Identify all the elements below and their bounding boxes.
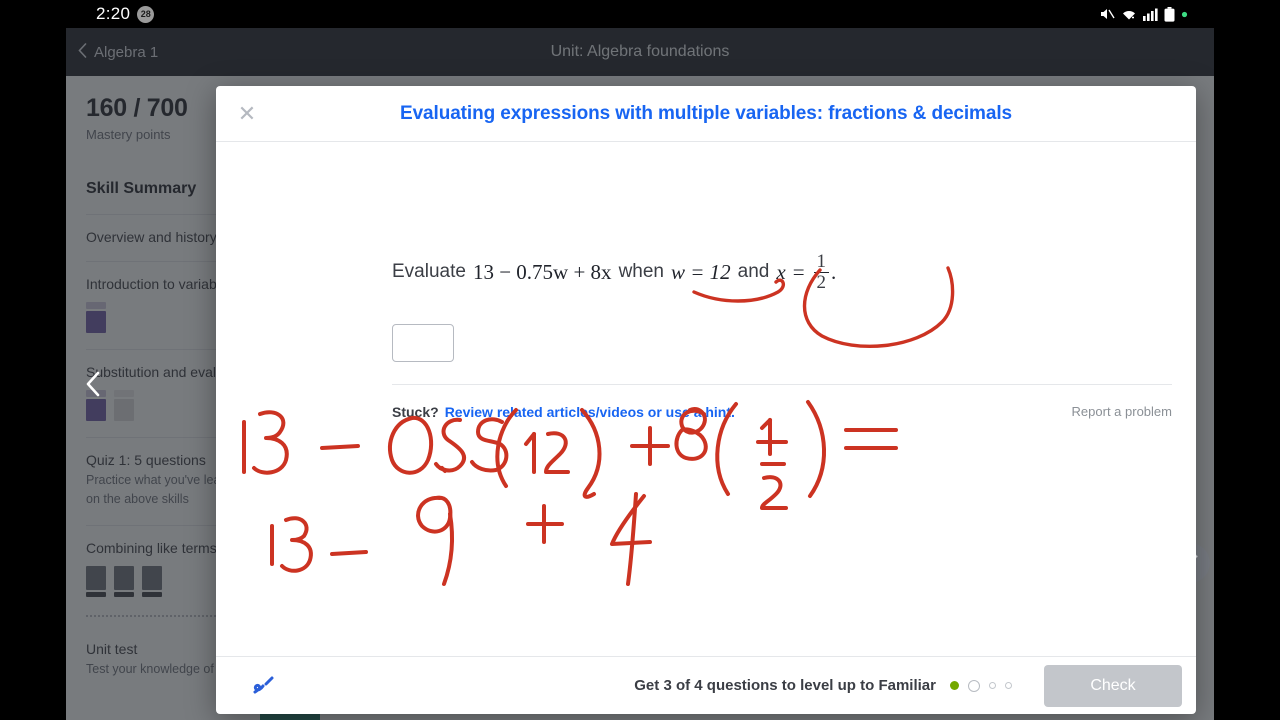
record-dot-icon [1181,11,1188,18]
scribble-pen-icon[interactable] [246,669,280,703]
progress-dot-pending [1005,682,1012,689]
prompt-when: when [619,261,664,283]
footer-progress-area: Get 3 of 4 questions to level up to Fami… [634,665,1196,707]
app-viewport: Algebra 1 Unit: Algebra foundations 160 … [66,28,1214,720]
answer-input[interactable] [392,324,454,362]
signal-icon [1143,8,1158,21]
progress-dot-pending [989,682,996,689]
prompt-assign-w: w = 12 [671,260,731,285]
prompt-assign-x-var: x [776,260,785,285]
fraction-denominator: 2 [814,272,830,293]
mute-icon [1099,7,1115,21]
question-prompt: Evaluate 13 − 0.75w + 8x when w = 12 and… [392,252,836,293]
notification-badge: 28 [137,6,154,23]
battery-icon [1164,7,1175,22]
annotation-work-line-2 [272,494,650,584]
progress-dots [950,680,1012,692]
wifi-icon [1121,8,1137,21]
previous-exercise-button[interactable] [78,371,108,401]
prompt-fraction: 1 2 [814,252,830,293]
stuck-label: Stuck? [392,404,439,420]
prompt-assign-x-eq: = [793,260,805,285]
modal-body: Evaluate 13 − 0.75w + 8x when w = 12 and… [216,142,1196,656]
fraction-numerator: 1 [814,252,830,272]
divider [392,384,1172,385]
prompt-lead: Evaluate [392,261,466,283]
status-left: 2:20 28 [96,4,154,24]
close-icon[interactable]: ✕ [232,99,262,129]
clock: 2:20 [96,4,130,24]
prompt-period: . [831,260,836,285]
modal-footer: Get 3 of 4 questions to level up to Fami… [216,656,1196,714]
prompt-expression: 13 − 0.75w + 8x [473,260,612,285]
progress-dot-correct [950,681,959,690]
status-right [1099,0,1188,28]
stuck-row: Stuck? Review related articles/videos or… [392,404,735,420]
prompt-and: and [738,261,770,283]
hint-link[interactable]: Review related articles/videos or use a … [445,404,735,420]
check-button[interactable]: Check [1044,665,1182,707]
android-status-bar: 2:20 28 [0,0,1280,28]
report-problem-link[interactable]: Report a problem [1072,404,1172,419]
chevron-left-icon [85,371,101,402]
exercise-modal: ✕ Evaluating expressions with multiple v… [216,86,1196,714]
modal-title: Evaluating expressions with multiple var… [400,103,1012,125]
progress-dot-current [968,680,980,692]
modal-header: ✕ Evaluating expressions with multiple v… [216,86,1196,142]
handwriting-annotations [216,142,1196,656]
screen-root: 2:20 28 [0,0,1280,720]
levelup-message: Get 3 of 4 questions to level up to Fami… [634,677,936,694]
